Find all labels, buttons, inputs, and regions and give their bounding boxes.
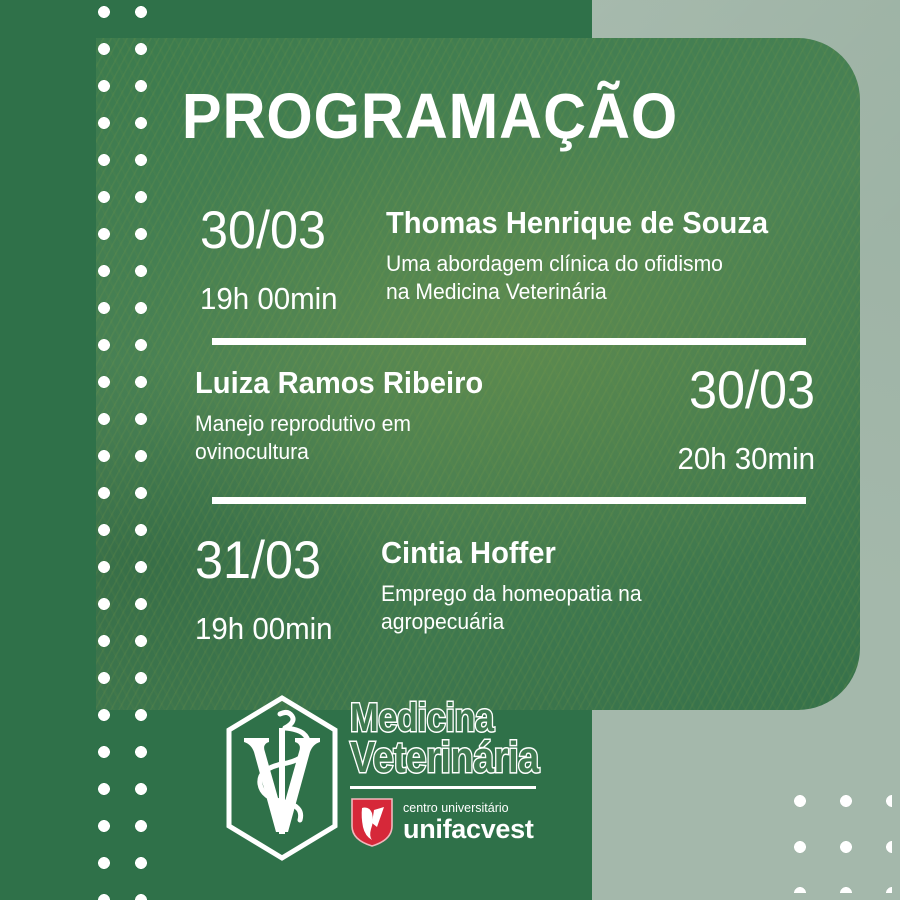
university-name: unifacvest xyxy=(403,816,534,843)
event-talk-line-2: na Medicina Veterinária xyxy=(386,278,803,307)
university-tagline: centro universitário xyxy=(403,802,534,815)
event-talk: Uma abordagem clínica do ofidismo na Med… xyxy=(386,250,803,307)
event-speaker: Cintia Hoffer xyxy=(381,537,789,570)
veterinary-hexagon-caduceus-icon xyxy=(222,694,342,862)
event-talk-line-2: ovinocultura xyxy=(195,438,612,467)
schedule-what: Cintia Hoffer Emprego da homeopatia na a… xyxy=(381,533,815,637)
course-logotype: Medicina Veterinária centro universitári… xyxy=(350,700,540,848)
schedule-row: 30/03 20h 30min Luiza Ramos Ribeiro Mane… xyxy=(195,363,815,475)
schedule-row: 31/03 19h 00min Cintia Hoffer Emprego da… xyxy=(195,533,815,645)
event-date: 30/03 xyxy=(200,205,377,257)
event-talk-line-1: Emprego da homeopatia na xyxy=(381,580,798,609)
schedule-item: 30/03 20h 30min Luiza Ramos Ribeiro Mane… xyxy=(195,363,815,475)
unifacvest-shield-icon xyxy=(350,796,394,848)
poster-canvas: PROGRAMAÇÃO 30/03 19h 00min Thomas Henri… xyxy=(0,0,900,900)
schedule-when: 30/03 20h 30min xyxy=(629,363,815,475)
course-name-line-2: Veterinária xyxy=(350,738,513,778)
university-text: centro universitário unifacvest xyxy=(403,802,534,844)
event-date: 31/03 xyxy=(195,535,372,587)
schedule-what: Luiza Ramos Ribeiro Manejo reprodutivo e… xyxy=(195,363,629,467)
schedule-divider xyxy=(212,497,806,504)
event-speaker: Thomas Henrique de Souza xyxy=(386,207,794,240)
event-talk-line-1: Uma abordagem clínica do ofidismo xyxy=(386,250,803,279)
event-time: 19h 00min xyxy=(195,613,372,646)
event-talk-line-2: agropecuária xyxy=(381,608,798,637)
course-name-line-1: Medicina xyxy=(350,700,513,737)
schedule-item: 30/03 19h 00min Thomas Henrique de Souza… xyxy=(200,203,820,315)
event-time: 20h 30min xyxy=(638,443,815,476)
schedule-when: 31/03 19h 00min xyxy=(195,533,381,645)
schedule-divider xyxy=(212,338,806,345)
event-talk-line-1: Manejo reprodutivo em xyxy=(195,410,612,439)
university-logo: centro universitário unifacvest xyxy=(350,796,540,848)
event-talk: Emprego da homeopatia na agropecuária xyxy=(381,580,798,637)
event-date: 30/03 xyxy=(638,365,815,417)
event-talk: Manejo reprodutivo em ovinocultura xyxy=(195,410,612,467)
dot-grid-bottom-right xyxy=(794,795,892,893)
schedule-what: Thomas Henrique de Souza Uma abordagem c… xyxy=(386,203,820,307)
event-speaker: Luiza Ramos Ribeiro xyxy=(195,367,603,400)
schedule-row: 30/03 19h 00min Thomas Henrique de Souza… xyxy=(200,203,820,315)
logo-block: Medicina Veterinária centro universitári… xyxy=(222,694,542,866)
event-time: 19h 00min xyxy=(200,283,377,316)
logo-divider xyxy=(350,786,536,789)
schedule-when: 30/03 19h 00min xyxy=(200,203,386,315)
schedule-item: 31/03 19h 00min Cintia Hoffer Emprego da… xyxy=(195,533,815,645)
dot-grid-left xyxy=(98,6,154,900)
